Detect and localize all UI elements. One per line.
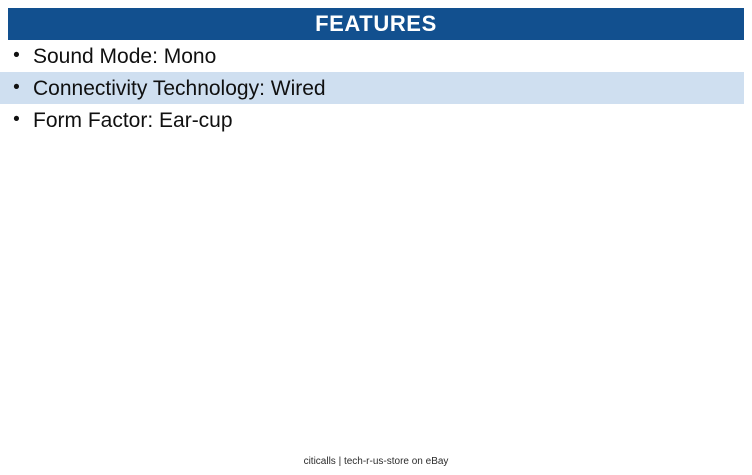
store-footer: citicalls | tech-r-us-store on eBay — [0, 451, 752, 469]
list-item: • Connectivity Technology: Wired — [0, 72, 744, 104]
bullet-icon: • — [0, 78, 33, 99]
features-list: • Sound Mode: Mono • Connectivity Techno… — [0, 40, 752, 136]
list-item: • Form Factor: Ear-cup — [0, 104, 752, 136]
list-item: • Sound Mode: Mono — [0, 40, 752, 72]
page-title: FEATURES — [315, 13, 437, 35]
bullet-icon: • — [0, 46, 33, 67]
features-header-bar: FEATURES — [8, 8, 744, 40]
feature-label: Connectivity Technology: Wired — [33, 78, 326, 99]
features-sheet: FEATURES • Sound Mode: Mono • Connectivi… — [0, 0, 752, 475]
feature-label: Sound Mode: Mono — [33, 46, 216, 67]
feature-label: Form Factor: Ear-cup — [33, 110, 233, 131]
bullet-icon: • — [0, 110, 33, 131]
store-credit-text: citicalls | tech-r-us-store on eBay — [304, 456, 449, 467]
